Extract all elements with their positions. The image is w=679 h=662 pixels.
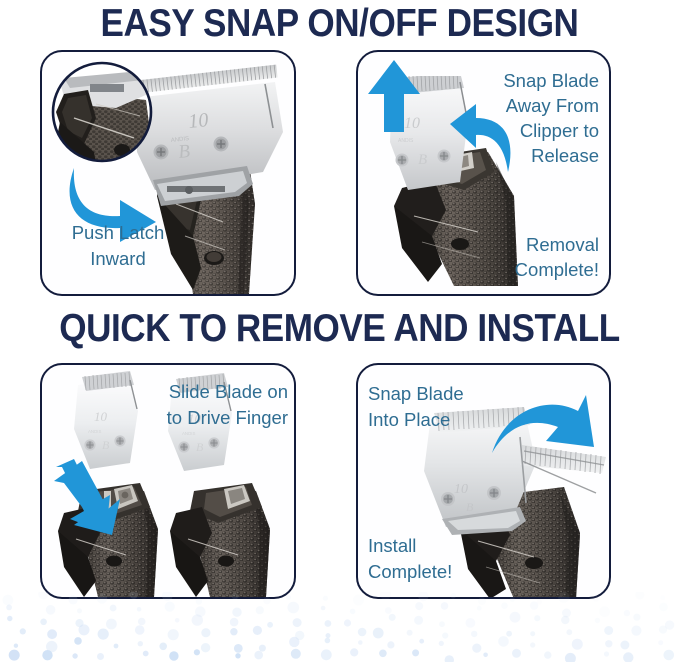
svg-text:10: 10: [94, 409, 108, 424]
svg-text:B: B: [177, 141, 191, 163]
page-title-secondary: QUICK TO REMOVE AND INSTALL: [34, 307, 645, 351]
svg-text:B: B: [466, 500, 474, 514]
caption-snap-into: Snap Blade Into Place: [368, 381, 488, 433]
svg-text:ANDIS: ANDIS: [88, 429, 101, 434]
panel-snap-into: 10 B Snap Blade Into Place Install Compl…: [356, 363, 611, 599]
svg-text:ANDIS: ANDIS: [171, 136, 190, 144]
curved-arrow-down-right-icon: [490, 391, 598, 469]
panel-snap-away: 10 ANDIS B Snap Blade Away From Clipper …: [356, 50, 611, 296]
arrow-up-icon: [366, 60, 422, 132]
arrow-down-right-icon: [52, 457, 126, 535]
svg-text:ANDIS: ANDIS: [398, 138, 414, 144]
svg-text:10: 10: [187, 109, 209, 133]
caption-removal-complete: Removal Complete!: [447, 232, 599, 282]
latch-closeup-inset: [50, 60, 154, 164]
svg-text:10: 10: [404, 115, 420, 132]
svg-text:B: B: [418, 152, 427, 168]
caption-slide-blade: Slide Blade on to Drive Finger: [133, 379, 288, 431]
svg-text:10: 10: [454, 482, 468, 497]
page-title-primary: EASY SNAP ON/OFF DESIGN: [34, 2, 645, 46]
svg-text:B: B: [102, 438, 110, 452]
caption-install-complete: Install Complete!: [368, 533, 498, 585]
caption-push-latch: Push Latch Inward: [48, 220, 188, 272]
polka-dot-pattern-decoration: [0, 592, 679, 662]
panel-slide-blade: 10 ANDIS B: [40, 363, 296, 599]
svg-text:B: B: [196, 440, 204, 454]
svg-text:ANDIS: ANDIS: [182, 431, 195, 436]
caption-snap-away: Snap Blade Away From Clipper to Release: [447, 68, 599, 168]
panel-push-latch: 10 ANDIS B: [40, 50, 296, 296]
